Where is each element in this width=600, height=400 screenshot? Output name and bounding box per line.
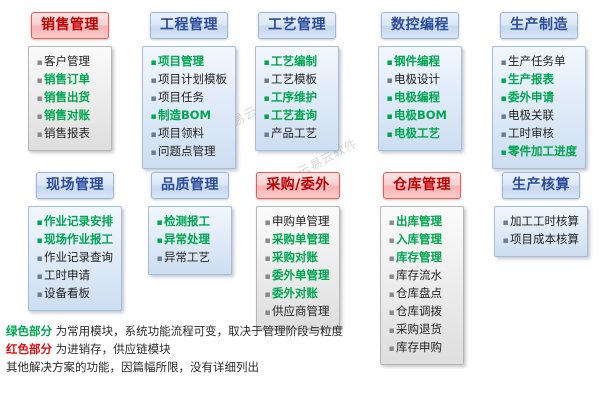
- bullet-icon: ▪: [35, 233, 44, 249]
- list-item[interactable]: ▪制造BOM: [149, 107, 227, 125]
- list-item-label: 项目计划模板: [158, 71, 227, 87]
- bullet-icon: ▪: [385, 91, 394, 107]
- bullet-icon: ▪: [387, 215, 396, 231]
- list-item[interactable]: ▪项目管理: [149, 53, 227, 71]
- list-item-label: 钢件编程: [394, 53, 440, 69]
- bullet-icon: ▪: [385, 55, 394, 71]
- module-map-board: 云易云软件作品 云易云软件 销售管理 ▪客户管理 ▪销售订单 ▪销售出货 ▪销售…: [0, 0, 600, 400]
- module-item-list-sales: ▪客户管理 ▪销售订单 ▪销售出货 ▪销售对账 ▪销售报表: [35, 53, 103, 143]
- list-item-label: 采购退货: [396, 321, 442, 337]
- list-item[interactable]: ▪委外对账: [263, 285, 331, 303]
- list-item[interactable]: ▪现场作业报工: [35, 231, 113, 249]
- module-header-manufacturing[interactable]: 生产制造: [500, 12, 578, 39]
- list-item[interactable]: ▪出库管理: [387, 213, 455, 231]
- list-item-label: 电极编程: [394, 89, 440, 105]
- module-header-purchasing[interactable]: 采购/委外: [256, 172, 340, 199]
- list-item[interactable]: ▪库存管理: [387, 249, 455, 267]
- list-item-label: 库存申购: [396, 339, 442, 355]
- module-item-list-quality: ▪检测报工 ▪异常处理 ▪异常工艺: [155, 213, 223, 267]
- module-item-list-engineering: ▪项目管理 ▪项目计划模板 ▪项目任务 ▪制造BOM ▪项目领料 ▪问题点管理: [149, 53, 227, 161]
- list-item[interactable]: ▪采购退货: [387, 321, 455, 339]
- legend-green-text: 为常用模块，系统功能流程可变，取决于管理阶段与粒度: [52, 324, 343, 338]
- list-item[interactable]: ▪电极工艺: [385, 125, 453, 143]
- bullet-icon: ▪: [387, 233, 396, 249]
- list-item[interactable]: ▪项目领料: [149, 125, 227, 143]
- module-column-sales: 销售管理 ▪客户管理 ▪销售订单 ▪销售出货 ▪销售对账 ▪销售报表: [28, 12, 112, 151]
- module-item-list-shopfloor: ▪作业记录安排 ▪现场作业报工 ▪作业记录查询 ▪工时申请 ▪设备看板: [35, 213, 113, 303]
- list-item[interactable]: ▪作业记录查询: [35, 249, 113, 267]
- list-item-label: 库存流水: [396, 267, 442, 283]
- list-item[interactable]: ▪工艺查询: [262, 107, 330, 125]
- module-column-engineering: 工程管理 ▪项目管理 ▪项目计划模板 ▪项目任务 ▪制造BOM ▪项目领料 ▪问…: [142, 12, 236, 169]
- module-body-shopfloor: ▪作业记录安排 ▪现场作业报工 ▪作业记录查询 ▪工时申请 ▪设备看板: [28, 206, 122, 311]
- legend-line-green: 绿色部分 为常用模块，系统功能流程可变，取决于管理阶段与粒度: [6, 322, 343, 340]
- module-column-process: 工艺管理 ▪工艺编制 ▪工艺模板 ▪工序维护 ▪工艺查询 ▪产品工艺: [255, 12, 339, 151]
- bullet-icon: ▪: [149, 55, 158, 71]
- module-body-wrap-quality: ▪检测报工 ▪异常处理 ▪异常工艺: [148, 206, 232, 275]
- module-header-costing[interactable]: 生产核算: [502, 172, 580, 199]
- list-item[interactable]: ▪检测报工: [155, 213, 223, 231]
- bullet-icon: ▪: [387, 323, 396, 339]
- bullet-icon: ▪: [149, 109, 158, 125]
- list-item[interactable]: ▪电极设计: [385, 71, 453, 89]
- list-item[interactable]: ▪仓库调拨: [387, 303, 455, 321]
- list-item-label: 制造BOM: [158, 107, 211, 123]
- list-item[interactable]: ▪项目成本核算: [501, 231, 579, 249]
- bullet-icon: ▪: [35, 269, 44, 285]
- module-body-wrap-shopfloor: ▪作业记录安排 ▪现场作业报工 ▪作业记录查询 ▪工时申请 ▪设备看板: [28, 206, 122, 311]
- list-item-label: 电极工艺: [394, 125, 440, 141]
- list-item-label: 生产任务单: [508, 53, 566, 69]
- module-item-list-purchasing: ▪申购单管理 ▪采购单管理 ▪采购对账 ▪委外单管理 ▪委外对账 ▪供应商管理: [263, 213, 331, 321]
- list-item[interactable]: ▪仓库盘点: [387, 285, 455, 303]
- module-column-quality: 品质管理 ▪检测报工 ▪异常处理 ▪异常工艺: [148, 172, 232, 275]
- list-item-label: 供应商管理: [272, 303, 330, 319]
- list-item-label: 异常处理: [164, 231, 210, 247]
- bullet-icon: ▪: [262, 55, 271, 71]
- module-column-costing: 生产核算 ▪加工工时核算 ▪项目成本核算: [494, 172, 588, 257]
- module-body-manufacturing: ▪生产任务单 ▪生产报表 ▪委外申请 ▪电极关联 ▪工时审核 ▪零件加工进度: [492, 46, 586, 169]
- list-item-label: 设备看板: [44, 285, 90, 301]
- bullet-icon: ▪: [263, 305, 272, 321]
- module-column-manufacturing: 生产制造 ▪生产任务单 ▪生产报表 ▪委外申请 ▪电极关联 ▪工时审核 ▪零件加…: [492, 12, 586, 169]
- bullet-icon: ▪: [262, 73, 271, 89]
- bullet-icon: ▪: [387, 251, 396, 267]
- bullet-icon: ▪: [387, 287, 396, 303]
- list-item-label: 销售订单: [44, 71, 90, 87]
- list-item[interactable]: ▪销售出货: [35, 89, 103, 107]
- module-body-wrap-process: ▪工艺编制 ▪工艺模板 ▪工序维护 ▪工艺查询 ▪产品工艺: [255, 46, 339, 151]
- bullet-icon: ▪: [149, 73, 158, 89]
- list-item[interactable]: ▪库存申购: [387, 339, 455, 357]
- bullet-icon: ▪: [35, 91, 44, 107]
- module-column-shopfloor: 现场管理 ▪作业记录安排 ▪现场作业报工 ▪作业记录查询 ▪工时申请 ▪设备看板: [28, 172, 122, 311]
- list-item[interactable]: ▪工艺编制: [262, 53, 330, 71]
- list-item-label: 问题点管理: [158, 143, 216, 159]
- list-item-label: 委外申请: [508, 89, 554, 105]
- list-item-label: 项目任务: [158, 89, 204, 105]
- list-item[interactable]: ▪销售报表: [35, 125, 103, 143]
- list-item-label: 作业记录安排: [44, 213, 113, 229]
- bullet-icon: ▪: [35, 215, 44, 231]
- list-item[interactable]: ▪作业记录安排: [35, 213, 113, 231]
- bullet-icon: ▪: [387, 269, 396, 285]
- list-item[interactable]: ▪产品工艺: [262, 125, 330, 143]
- list-item[interactable]: ▪工时申请: [35, 267, 113, 285]
- legend-green-tag: 绿色部分: [6, 324, 52, 338]
- bullet-icon: ▪: [387, 341, 396, 357]
- bullet-icon: ▪: [501, 215, 510, 231]
- bullet-icon: ▪: [263, 287, 272, 303]
- module-item-list-warehouse: ▪出库管理 ▪入库管理 ▪库存管理 ▪库存流水 ▪仓库盘点 ▪仓库调拨 ▪采购退…: [387, 213, 455, 357]
- list-item-label: 加工工时核算: [510, 213, 579, 229]
- module-column-cnc: 数控编程 ▪钢件编程 ▪电极设计 ▪电极编程 ▪电极BOM ▪电极工艺: [378, 12, 462, 151]
- list-item[interactable]: ▪项目计划模板: [149, 71, 227, 89]
- list-item-label: 申购单管理: [272, 213, 330, 229]
- bullet-icon: ▪: [499, 73, 508, 89]
- module-item-list-process: ▪工艺编制 ▪工艺模板 ▪工序维护 ▪工艺查询 ▪产品工艺: [262, 53, 330, 143]
- list-item[interactable]: ▪电极关联: [499, 107, 577, 125]
- bullet-icon: ▪: [262, 91, 271, 107]
- list-item[interactable]: ▪库存流水: [387, 267, 455, 285]
- list-item-label: 委外单管理: [272, 267, 330, 283]
- list-item[interactable]: ▪申购单管理: [263, 213, 331, 231]
- legend-line-note: 其他解决方案的功能，因篇幅所限，没有详细列出: [6, 358, 343, 376]
- list-item-label: 工艺编制: [271, 53, 317, 69]
- list-item-label: 检测报工: [164, 213, 210, 229]
- bullet-icon: ▪: [155, 215, 164, 231]
- module-body-wrap-warehouse: ▪出库管理 ▪入库管理 ▪库存管理 ▪库存流水 ▪仓库盘点 ▪仓库调拨 ▪采购退…: [380, 206, 464, 365]
- list-item-label: 采购对账: [272, 249, 318, 265]
- list-item[interactable]: ▪销售订单: [35, 71, 103, 89]
- module-body-costing: ▪加工工时核算 ▪项目成本核算: [494, 206, 588, 257]
- legend-block: 绿色部分 为常用模块，系统功能流程可变，取决于管理阶段与粒度 红色部分 为进销存…: [6, 322, 343, 376]
- list-item[interactable]: ▪电极编程: [385, 89, 453, 107]
- module-body-wrap-engineering: ▪项目管理 ▪项目计划模板 ▪项目任务 ▪制造BOM ▪项目领料 ▪问题点管理: [142, 46, 236, 169]
- bullet-icon: ▪: [499, 91, 508, 107]
- module-body-wrap-manufacturing: ▪生产任务单 ▪生产报表 ▪委外申请 ▪电极关联 ▪工时审核 ▪零件加工进度: [492, 46, 586, 169]
- list-item[interactable]: ▪零件加工进度: [499, 143, 577, 161]
- list-item[interactable]: ▪采购单管理: [263, 231, 331, 249]
- bullet-icon: ▪: [499, 145, 508, 161]
- list-item[interactable]: ▪生产报表: [499, 71, 577, 89]
- list-item[interactable]: ▪项目任务: [149, 89, 227, 107]
- module-column-purchasing: 采购/委外 ▪申购单管理 ▪采购单管理 ▪采购对账 ▪委外单管理 ▪委外对账 ▪…: [256, 172, 340, 329]
- bullet-icon: ▪: [262, 127, 271, 143]
- list-item[interactable]: ▪异常工艺: [155, 249, 223, 267]
- bullet-icon: ▪: [263, 251, 272, 267]
- module-header-cnc[interactable]: 数控编程: [381, 12, 459, 39]
- list-item[interactable]: ▪问题点管理: [149, 143, 227, 161]
- list-item-label: 现场作业报工: [44, 231, 113, 247]
- module-header-warehouse[interactable]: 仓库管理: [383, 172, 461, 199]
- list-item-label: 异常工艺: [164, 249, 210, 265]
- list-item[interactable]: ▪工时审核: [499, 125, 577, 143]
- list-item-label: 项目管理: [158, 53, 204, 69]
- bullet-icon: ▪: [499, 127, 508, 143]
- list-item[interactable]: ▪委外单管理: [263, 267, 331, 285]
- bullet-icon: ▪: [385, 73, 394, 89]
- list-item-label: 工艺查询: [271, 107, 317, 123]
- list-item[interactable]: ▪入库管理: [387, 231, 455, 249]
- list-item-label: 电极设计: [394, 71, 440, 87]
- module-column-warehouse: 仓库管理 ▪出库管理 ▪入库管理 ▪库存管理 ▪库存流水 ▪仓库盘点 ▪仓库调拨…: [380, 172, 464, 365]
- list-item-label: 委外对账: [272, 285, 318, 301]
- module-header-engineering[interactable]: 工程管理: [150, 12, 228, 39]
- list-item-label: 客户管理: [44, 53, 90, 69]
- bullet-icon: ▪: [387, 305, 396, 321]
- list-item-label: 销售出货: [44, 89, 90, 105]
- bullet-icon: ▪: [499, 55, 508, 71]
- list-item[interactable]: ▪工序维护: [262, 89, 330, 107]
- list-item[interactable]: ▪客户管理: [35, 53, 103, 71]
- list-item[interactable]: ▪供应商管理: [263, 303, 331, 321]
- list-item-label: 仓库调拨: [396, 303, 442, 319]
- legend-red-text: 为进销存，供应链模块: [52, 342, 171, 356]
- list-item[interactable]: ▪加工工时核算: [501, 213, 579, 231]
- list-item-label: 工时审核: [508, 125, 554, 141]
- module-item-list-costing: ▪加工工时核算 ▪项目成本核算: [501, 213, 579, 249]
- bullet-icon: ▪: [35, 127, 44, 143]
- list-item[interactable]: ▪采购对账: [263, 249, 331, 267]
- list-item-label: 仓库盘点: [396, 285, 442, 301]
- bullet-icon: ▪: [263, 269, 272, 285]
- module-body-wrap-sales: ▪客户管理 ▪销售订单 ▪销售出货 ▪销售对账 ▪销售报表: [28, 46, 112, 151]
- list-item[interactable]: ▪生产任务单: [499, 53, 577, 71]
- list-item[interactable]: ▪钢件编程: [385, 53, 453, 71]
- module-header-sales[interactable]: 销售管理: [31, 12, 109, 39]
- list-item[interactable]: ▪销售对账: [35, 107, 103, 125]
- module-item-list-manufacturing: ▪生产任务单 ▪生产报表 ▪委外申请 ▪电极关联 ▪工时审核 ▪零件加工进度: [499, 53, 577, 161]
- list-item-label: 入库管理: [396, 231, 442, 247]
- list-item-label: 电极关联: [508, 107, 554, 123]
- list-item-label: 作业记录查询: [44, 249, 113, 265]
- list-item-label: 工序维护: [271, 89, 317, 105]
- list-item-label: 出库管理: [396, 213, 442, 229]
- list-item-label: 生产报表: [508, 71, 554, 87]
- list-item-label: 采购单管理: [272, 231, 330, 247]
- bullet-icon: ▪: [385, 127, 394, 143]
- bullet-icon: ▪: [385, 109, 394, 125]
- list-item-label: 项目成本核算: [510, 231, 579, 247]
- list-item[interactable]: ▪工艺模板: [262, 71, 330, 89]
- module-body-engineering: ▪项目管理 ▪项目计划模板 ▪项目任务 ▪制造BOM ▪项目领料 ▪问题点管理: [142, 46, 236, 169]
- bullet-icon: ▪: [35, 287, 44, 303]
- list-item-label: 产品工艺: [271, 125, 317, 141]
- bullet-icon: ▪: [35, 251, 44, 267]
- list-item[interactable]: ▪委外申请: [499, 89, 577, 107]
- module-body-cnc: ▪钢件编程 ▪电极设计 ▪电极编程 ▪电极BOM ▪电极工艺: [378, 46, 462, 151]
- bullet-icon: ▪: [263, 215, 272, 231]
- list-item-label: 零件加工进度: [508, 143, 577, 159]
- list-item[interactable]: ▪电极BOM: [385, 107, 453, 125]
- list-item-label: 电极BOM: [394, 107, 447, 123]
- module-body-quality: ▪检测报工 ▪异常处理 ▪异常工艺: [148, 206, 232, 275]
- module-body-wrap-purchasing: ▪申购单管理 ▪采购单管理 ▪采购对账 ▪委外单管理 ▪委外对账 ▪供应商管理: [256, 206, 340, 329]
- list-item-label: 项目领料: [158, 125, 204, 141]
- module-body-process: ▪工艺编制 ▪工艺模板 ▪工序维护 ▪工艺查询 ▪产品工艺: [255, 46, 339, 151]
- module-body-sales: ▪客户管理 ▪销售订单 ▪销售出货 ▪销售对账 ▪销售报表: [28, 46, 112, 151]
- list-item-label: 销售报表: [44, 125, 90, 141]
- bullet-icon: ▪: [149, 145, 158, 161]
- module-header-quality[interactable]: 品质管理: [151, 172, 229, 199]
- legend-line-red: 红色部分 为进销存，供应链模块: [6, 340, 343, 358]
- legend-red-tag: 红色部分: [6, 342, 52, 356]
- module-body-wrap-costing: ▪加工工时核算 ▪项目成本核算: [494, 206, 588, 257]
- bullet-icon: ▪: [262, 109, 271, 125]
- module-item-list-cnc: ▪钢件编程 ▪电极设计 ▪电极编程 ▪电极BOM ▪电极工艺: [385, 53, 453, 143]
- module-body-wrap-cnc: ▪钢件编程 ▪电极设计 ▪电极编程 ▪电极BOM ▪电极工艺: [378, 46, 462, 151]
- list-item[interactable]: ▪设备看板: [35, 285, 113, 303]
- list-item-label: 销售对账: [44, 107, 90, 123]
- bullet-icon: ▪: [149, 127, 158, 143]
- module-body-warehouse: ▪出库管理 ▪入库管理 ▪库存管理 ▪库存流水 ▪仓库盘点 ▪仓库调拨 ▪采购退…: [380, 206, 464, 365]
- bullet-icon: ▪: [501, 233, 510, 249]
- bullet-icon: ▪: [155, 251, 164, 267]
- bullet-icon: ▪: [149, 91, 158, 107]
- bullet-icon: ▪: [35, 55, 44, 71]
- bullet-icon: ▪: [35, 73, 44, 89]
- list-item-label: 工时申请: [44, 267, 90, 283]
- list-item-label: 工艺模板: [271, 71, 317, 87]
- module-body-purchasing: ▪申购单管理 ▪采购单管理 ▪采购对账 ▪委外单管理 ▪委外对账 ▪供应商管理: [256, 206, 340, 329]
- bullet-icon: ▪: [263, 233, 272, 249]
- bullet-icon: ▪: [155, 233, 164, 249]
- bullet-icon: ▪: [35, 109, 44, 125]
- list-item-label: 库存管理: [396, 249, 442, 265]
- list-item[interactable]: ▪异常处理: [155, 231, 223, 249]
- bullet-icon: ▪: [499, 109, 508, 125]
- module-header-process[interactable]: 工艺管理: [258, 12, 336, 39]
- module-header-shopfloor[interactable]: 现场管理: [36, 172, 114, 199]
